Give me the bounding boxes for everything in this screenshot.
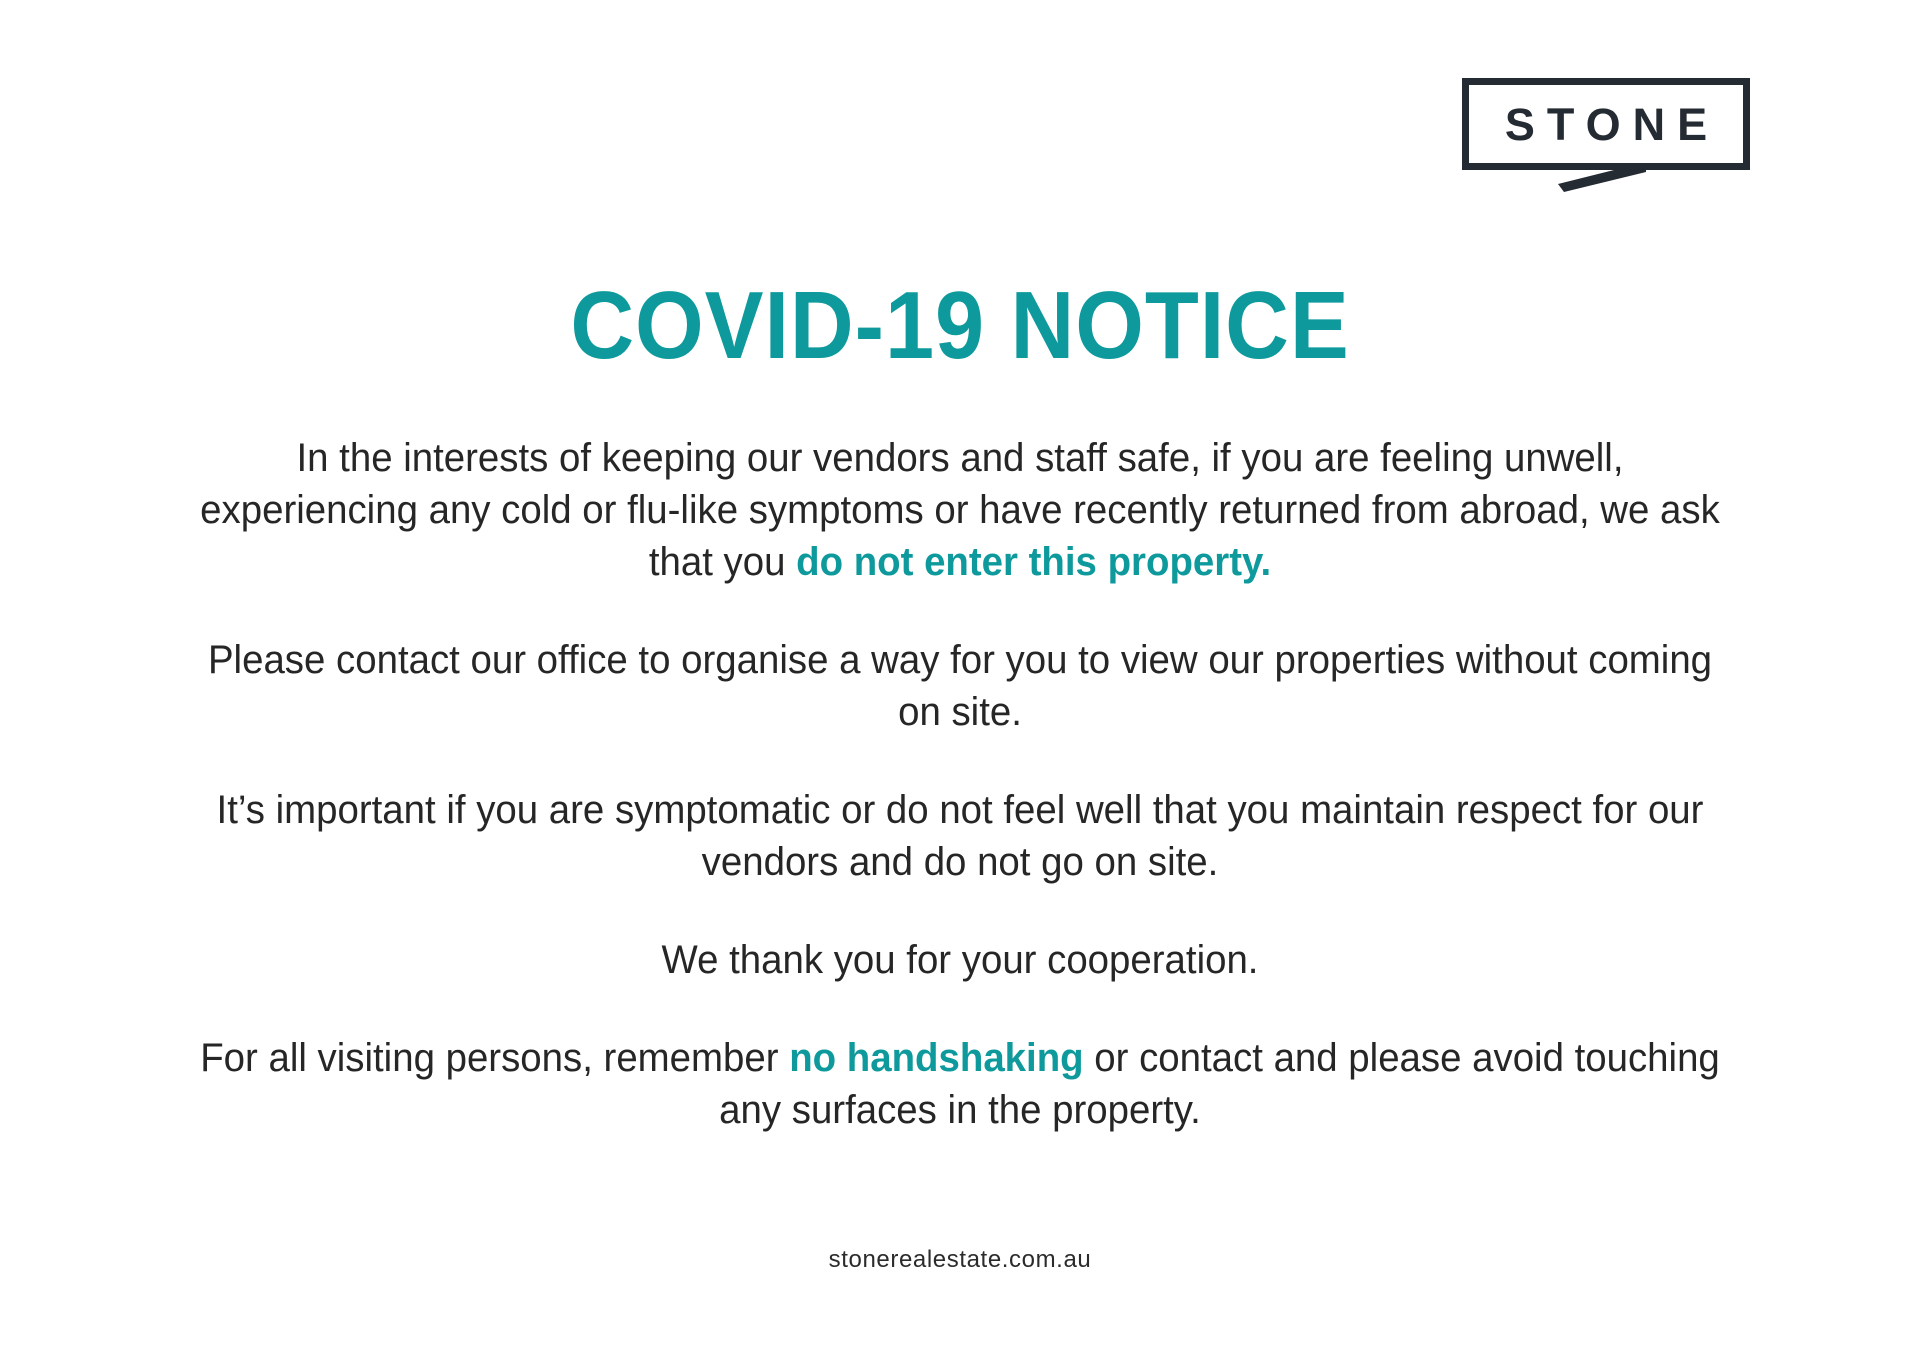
body-text: We thank you for your cooperation. [662, 938, 1259, 982]
paragraph-3: It’s important if you are symptomatic or… [192, 784, 1728, 888]
accent-text: no handshaking [789, 1036, 1083, 1080]
paragraph-5: For all visiting persons, remember no ha… [192, 1032, 1728, 1136]
footer-website-url: stonerealestate.com.au [0, 1246, 1920, 1274]
body-text: Please contact our office to organise a … [208, 638, 1712, 734]
logo-wordmark: STONE [1462, 78, 1750, 170]
page-title: COVID-19 NOTICE [77, 278, 1843, 374]
body-text: For all visiting persons, remember [200, 1036, 789, 1080]
body-text: It’s important if you are symptomatic or… [217, 788, 1704, 884]
paragraph-1: In the interests of keeping our vendors … [192, 432, 1728, 588]
notice-body: In the interests of keeping our vendors … [192, 432, 1728, 1136]
covid-notice-poster: STONE COVID-19 NOTICE In the interests o… [0, 0, 1920, 1357]
paragraph-4: We thank you for your cooperation. [192, 934, 1728, 986]
accent-text: do not enter this property. [796, 540, 1271, 584]
stone-logo: STONE [1462, 78, 1762, 193]
paragraph-2: Please contact our office to organise a … [192, 634, 1728, 738]
